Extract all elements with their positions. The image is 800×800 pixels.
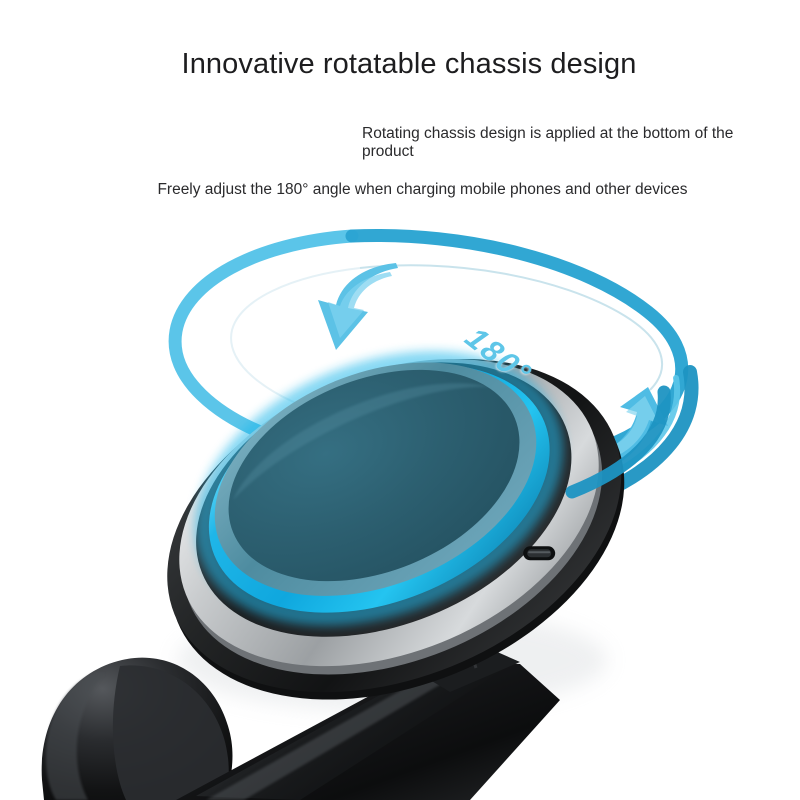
usb-c-port <box>523 546 555 560</box>
rotation-arrow-upper-left <box>318 263 398 350</box>
product-marketing-image: Innovative rotatable chassis design Rota… <box>0 0 800 800</box>
product-illustration: 180° <box>0 0 800 800</box>
